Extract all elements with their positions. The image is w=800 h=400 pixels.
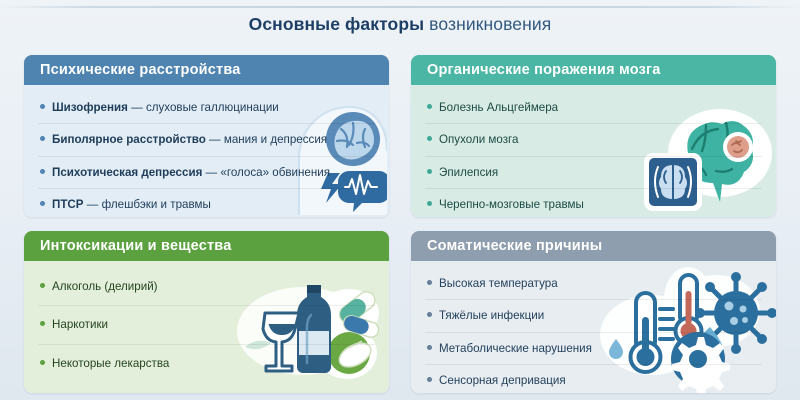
list-item[interactable]: Шизофрения — слуховые галлюцинации [38,92,375,123]
card-intoxication-substances-header: Интоксикации и вещества [24,231,389,261]
bullet-icon [40,136,45,141]
list-item[interactable]: Некоторые лекарства [38,344,375,382]
card-mental-disorders-header: Психические расстройства [24,55,389,85]
bullet-icon [40,283,45,288]
card-intoxication-substances[interactable]: Интоксикации и вещества [24,231,389,393]
list-item[interactable]: Эпилепсия [425,156,762,188]
list-item-label: Эпилепсия [439,166,498,179]
list-item[interactable]: Высокая температура [425,268,762,299]
list-item-label: Некоторые лекарства [52,357,169,370]
list-item[interactable]: Метаболические нарушения [425,332,762,364]
list-item-label: Опухоли мозга [439,133,518,146]
bullet-icon [427,201,432,206]
card-mental-disorders-items: Шизофрения — слуховые галлюцинации Бипол… [38,92,375,217]
list-item[interactable]: Алкоголь (делирий) [38,268,375,305]
card-organic-brain-damage-body: Болезнь Альцгеймера Опухоли мозга Эпилеп… [411,85,776,217]
page-title: Основные факторы возникновения [0,14,800,35]
list-item[interactable]: Наркотики [38,305,375,343]
list-item-label: Болезнь Альцгеймера [439,101,558,114]
list-item-label: Психотическая депрессия — «голоса» обвин… [52,166,330,179]
card-mental-disorders[interactable]: Психические расстройства Шизофрения — сл… [24,55,389,217]
bullet-icon [427,377,432,382]
top-divider [0,6,800,8]
list-item-label: Черепно-мозговые травмы [439,198,584,211]
card-mental-disorders-title: Психические расстройства [40,62,241,78]
list-item-label: Алкоголь (делирий) [52,280,158,293]
list-item-label: Метаболические нарушения [439,342,592,355]
bullet-icon [427,104,432,109]
bullet-icon [40,201,45,206]
list-item[interactable]: Сенсорная депривация [425,364,762,393]
card-intoxication-substances-body: Алкоголь (делирий) Наркотики Некоторые л… [24,261,389,393]
bullet-icon [40,169,45,174]
page-title-strong: Основные факторы [249,14,425,34]
card-somatic-causes-items: Высокая температура Тяжёлые инфекции Мет… [425,268,762,393]
card-organic-brain-damage-title: Органические поражения мозга [427,62,661,78]
card-somatic-causes-body: Высокая температура Тяжёлые инфекции Мет… [411,261,776,393]
card-organic-brain-damage-header: Органические поражения мозга [411,55,776,85]
card-somatic-causes-title: Соматические причины [427,238,602,254]
bullet-icon [40,104,45,109]
card-somatic-causes-header: Соматические причины [411,231,776,261]
list-item-label: Высокая температура [439,277,558,290]
page-title-rest: возникновения [424,14,551,34]
list-item[interactable]: Черепно-мозговые травмы [425,188,762,217]
card-intoxication-substances-items: Алкоголь (делирий) Наркотики Некоторые л… [38,268,375,382]
bullet-icon [427,345,432,350]
factor-card-grid: Психические расстройства Шизофрения — сл… [24,55,776,393]
bullet-icon [40,321,45,326]
list-item-label: Шизофрения — слуховые галлюцинации [52,101,279,114]
list-item[interactable]: Биполярное расстройство — мания и депрес… [38,123,375,155]
bullet-icon [427,136,432,141]
card-organic-brain-damage-items: Болезнь Альцгеймера Опухоли мозга Эпилеп… [425,92,762,217]
list-item[interactable]: Психотическая депрессия — «голоса» обвин… [38,156,375,188]
bullet-icon [427,312,432,317]
bullet-icon [427,280,432,285]
list-item[interactable]: Опухоли мозга [425,123,762,155]
card-mental-disorders-body: Шизофрения — слуховые галлюцинации Бипол… [24,85,389,217]
list-item[interactable]: Тяжёлые инфекции [425,299,762,331]
card-somatic-causes[interactable]: Соматические причины [411,231,776,393]
card-intoxication-substances-title: Интоксикации и вещества [40,238,231,254]
list-item-label: ПТСР — флешбэки и травмы [52,198,211,211]
list-item-label: Сенсорная депривация [439,374,566,387]
list-item-label: Наркотики [52,318,108,331]
list-item-label: Биполярное расстройство — мания и депрес… [52,133,327,146]
bullet-icon [40,360,45,365]
list-item[interactable]: ПТСР — флешбэки и травмы [38,188,375,217]
list-item[interactable]: Болезнь Альцгеймера [425,92,762,123]
card-organic-brain-damage[interactable]: Органические поражения мозга [411,55,776,217]
bullet-icon [427,169,432,174]
list-item-label: Тяжёлые инфекции [439,309,544,322]
